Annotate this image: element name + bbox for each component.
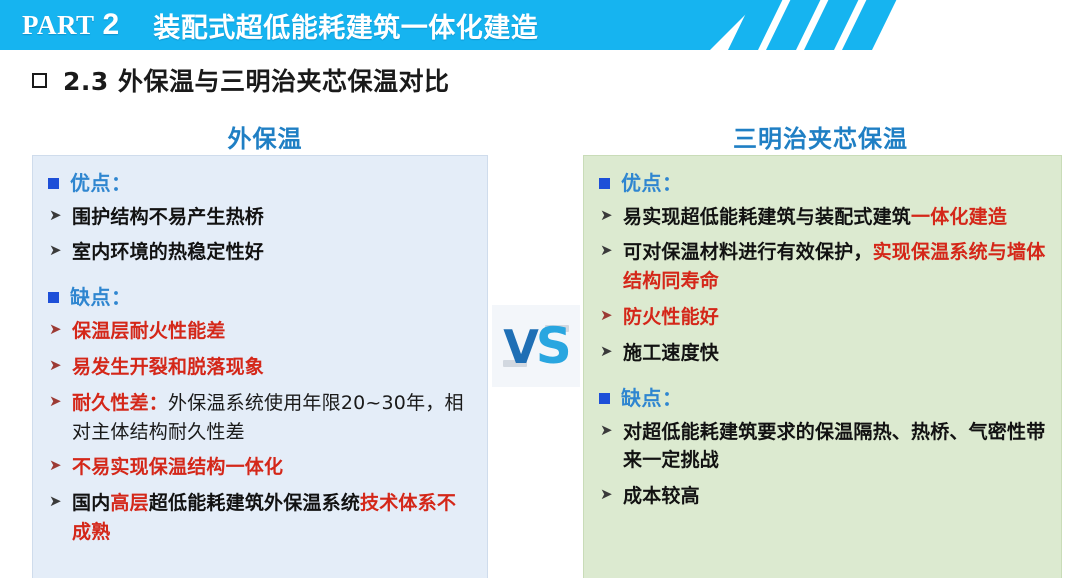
list-item-text: 保温层耐火性能差 [72, 317, 226, 346]
list-item-text: 不易实现保温结构一体化 [72, 453, 283, 482]
text-run: 防火性能好 [623, 306, 719, 328]
text-run: 室内环境的热稳定性好 [72, 241, 264, 263]
text-run: 对超低能耗建筑要求的保温隔热、热桥、气密性带来一定挑战 [623, 421, 1045, 472]
arrow-bullet-icon: ➤ [49, 322, 63, 337]
group-heading-label: 缺点： [621, 385, 683, 413]
text-run: 施工速度快 [623, 342, 719, 364]
header-subject: 装配式超低能耗建筑一体化建造 [153, 6, 538, 45]
list-item-text: 室内环境的热稳定性好 [72, 238, 264, 267]
slide-header: PART 2 装配式超低能耗建筑一体化建造 [0, 0, 1080, 50]
header-title: PART 2 装配式超低能耗建筑一体化建造 [22, 0, 538, 50]
arrow-bullet-icon: ➤ [49, 208, 63, 223]
group-heading: 缺点： [598, 385, 1047, 413]
arrow-bullet-icon: ➤ [49, 458, 63, 473]
group-heading: 优点： [47, 170, 473, 198]
list-item-text: 对超低能耗建筑要求的保温隔热、热桥、气密性带来一定挑战 [623, 418, 1047, 476]
text-run: 成本较高 [623, 485, 700, 507]
list-item-text: 易发生开裂和脱落现象 [72, 353, 264, 382]
arrow-bullet-icon: ➤ [600, 308, 614, 323]
list-item: ➤国内高层超低能耗建筑外保温系统技术体系不成熟 [47, 489, 473, 547]
arrow-bullet-icon: ➤ [600, 487, 614, 502]
text-run: 国内 [72, 492, 110, 514]
left-column-heading: 外保温 [155, 119, 375, 154]
section-title-text: 2.3 外保温与三明治夹芯保温对比 [63, 62, 450, 98]
list-item-text: 耐久性差：外保温系统使用年限20~30年，相对主体结构耐久性差 [72, 389, 473, 447]
arrow-bullet-icon: ➤ [49, 358, 63, 373]
list-item-text: 施工速度快 [623, 339, 719, 368]
list-item: ➤成本较高 [598, 482, 1047, 511]
list-item-text: 防火性能好 [623, 303, 719, 332]
text-run: 高层 [110, 492, 148, 514]
list-item: ➤保温层耐火性能差 [47, 317, 473, 346]
arrow-bullet-icon: ➤ [600, 208, 614, 223]
text-run: 易实现超低能耗建筑与装配式建筑 [623, 206, 911, 228]
list-item-text: 围护结构不易产生热桥 [72, 203, 264, 232]
list-item: ➤围护结构不易产生热桥 [47, 203, 473, 232]
arrow-bullet-icon: ➤ [600, 423, 614, 438]
list-item-text: 易实现超低能耗建筑与装配式建筑一体化建造 [623, 203, 1007, 232]
versus-letter-s: S [536, 317, 569, 375]
text-run: 不易实现保温结构一体化 [72, 456, 283, 478]
arrow-bullet-icon: ➤ [49, 394, 63, 409]
filled-square-icon [599, 393, 610, 404]
text-run: 超低能耗建筑外保温系统 [149, 492, 360, 514]
group-heading-label: 优点： [621, 170, 683, 198]
filled-square-icon [48, 292, 59, 303]
left-comparison-panel: 优点：➤围护结构不易产生热桥➤室内环境的热稳定性好缺点：➤保温层耐火性能差➤易发… [32, 155, 488, 578]
arrow-bullet-icon: ➤ [49, 494, 63, 509]
list-item: ➤可对保温材料进行有效保护，实现保温系统与墙体结构同寿命 [598, 238, 1047, 296]
right-comparison-panel: 优点：➤易实现超低能耗建筑与装配式建筑一体化建造➤可对保温材料进行有效保护，实现… [583, 155, 1062, 578]
part-label: PART [22, 10, 95, 41]
filled-square-icon [48, 178, 59, 189]
list-item: ➤对超低能耗建筑要求的保温隔热、热桥、气密性带来一定挑战 [598, 418, 1047, 476]
group-heading: 缺点： [47, 284, 473, 312]
list-item-text: 成本较高 [623, 482, 700, 511]
section-title: 2.3 外保温与三明治夹芯保温对比 [32, 62, 450, 98]
filled-square-icon [599, 178, 610, 189]
text-run: 保温层耐火性能差 [72, 320, 226, 342]
text-run: 易发生开裂和脱落现象 [72, 356, 264, 378]
arrow-bullet-icon: ➤ [49, 243, 63, 258]
list-item: ➤不易实现保温结构一体化 [47, 453, 473, 482]
text-run: 可对保温材料进行有效保护， [623, 241, 873, 263]
group-heading-label: 缺点： [70, 284, 132, 312]
list-item: ➤易发生开裂和脱落现象 [47, 353, 473, 382]
part-number: 2 [103, 8, 120, 42]
list-item: ➤施工速度快 [598, 339, 1047, 368]
list-item-text: 国内高层超低能耗建筑外保温系统技术体系不成熟 [72, 489, 473, 547]
versus-badge: VS [492, 305, 580, 387]
list-item-text: 可对保温材料进行有效保护，实现保温系统与墙体结构同寿命 [623, 238, 1047, 296]
text-run: 围护结构不易产生热桥 [72, 206, 264, 228]
versus-letter-v: V [503, 320, 536, 374]
versus-letters: VS [503, 321, 569, 371]
arrow-bullet-icon: ➤ [600, 344, 614, 359]
right-column-heading: 三明治夹芯保温 [683, 119, 958, 154]
square-outline-icon [32, 73, 47, 88]
arrow-bullet-icon: ➤ [600, 243, 614, 258]
list-item: ➤室内环境的热稳定性好 [47, 238, 473, 267]
list-item: ➤易实现超低能耗建筑与装配式建筑一体化建造 [598, 203, 1047, 232]
group-heading-label: 优点： [70, 170, 132, 198]
group-heading: 优点： [598, 170, 1047, 198]
list-item: ➤耐久性差：外保温系统使用年限20~30年，相对主体结构耐久性差 [47, 389, 473, 447]
text-run: 一体化建造 [911, 206, 1007, 228]
text-run: 耐久性差： [72, 392, 168, 414]
list-item: ➤防火性能好 [598, 303, 1047, 332]
